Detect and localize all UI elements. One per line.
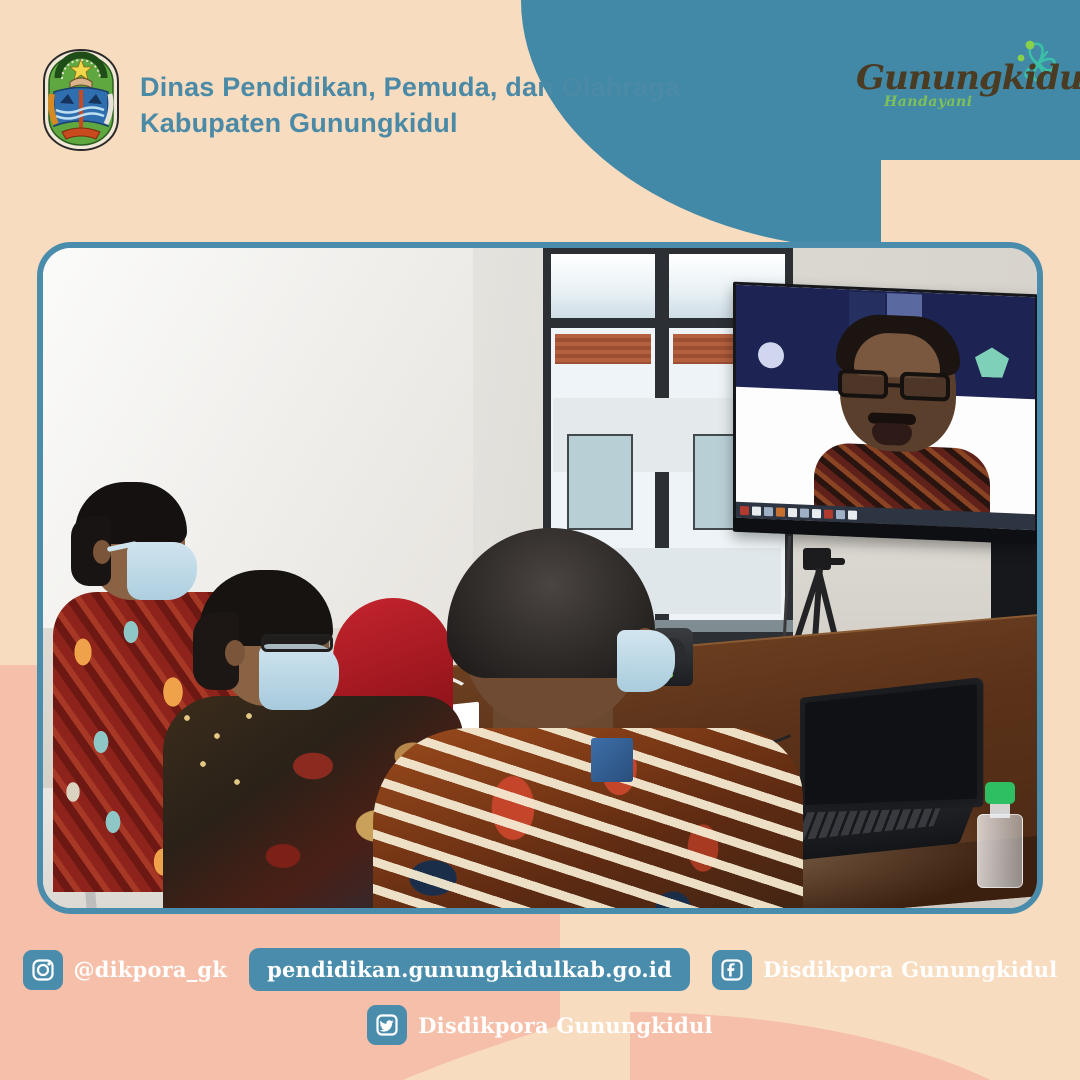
facebook-page-name: Disdikpora Gunungkidul (763, 957, 1057, 982)
wall-mounted-tv-icon (733, 282, 1037, 545)
facebook-icon[interactable] (712, 950, 752, 990)
gunungkidul-brand-logo: Gunungkidul Handayani (856, 36, 1066, 126)
brand-tagline: Handayani (884, 94, 973, 110)
video-call-speaker (814, 316, 984, 530)
website-url-pill[interactable]: pendidikan.gunungkidulkab.go.id (249, 948, 690, 991)
background-right-peach-panel (1044, 414, 1080, 934)
instagram-icon[interactable] (23, 950, 63, 990)
page-title-line-1: Dinas Pendidikan, Pemuda, dan Olahraga (140, 70, 680, 106)
header: Dinas Pendidikan, Pemuda, dan Olahraga K… (40, 48, 680, 152)
instagram-handle: @dikpora_gk (74, 957, 228, 982)
photo-frame (37, 242, 1043, 914)
page-title-line-2: Kabupaten Gunungkidul (140, 106, 680, 142)
poster-canvas: Dinas Pendidikan, Pemuda, dan Olahraga K… (0, 0, 1080, 1080)
footer: @dikpora_gk pendidikan.gunungkidulkab.go… (0, 948, 1080, 1045)
brand-wordmark: Gunungkidul (856, 58, 1080, 98)
twitter-link[interactable]: Disdikpora Gunungkidul (367, 1005, 712, 1045)
twitter-handle: Disdikpora Gunungkidul (418, 1013, 712, 1038)
tv-screen (736, 285, 1035, 531)
instagram-link[interactable]: @dikpora_gk (23, 950, 228, 990)
facebook-link[interactable]: Disdikpora Gunungkidul (712, 950, 1057, 990)
gunungkidul-regency-crest-icon (40, 48, 122, 152)
hand-sanitizer-bottle-icon (977, 778, 1023, 888)
header-title-block: Dinas Pendidikan, Pemuda, dan Olahraga K… (140, 48, 680, 141)
attendee-foreground (373, 538, 793, 908)
twitter-icon[interactable] (367, 1005, 407, 1045)
meeting-photo (43, 248, 1037, 908)
